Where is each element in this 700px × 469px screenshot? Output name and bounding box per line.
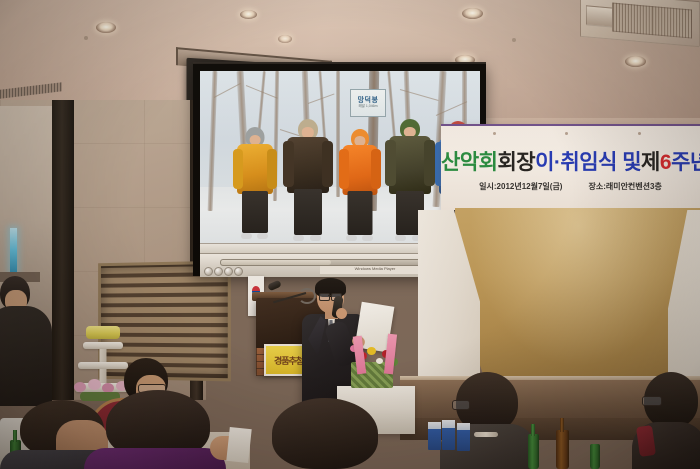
banner-place: 장소:래미안컨벤션3층 [588, 181, 661, 192]
banner-ordinal-prefix: 제 [641, 151, 660, 174]
stage-backdrop-gold [455, 208, 700, 386]
hiker-1-boot-r [257, 233, 268, 239]
microphone-head-icon [267, 280, 282, 292]
hiker-1-arm-right [267, 149, 277, 189]
cake-flower-2 [88, 379, 101, 390]
hiker-3-arm-right [371, 149, 381, 189]
hiker-1 [234, 127, 276, 239]
flower-white-1 [376, 358, 383, 364]
hiker-1-legs [242, 191, 268, 233]
speaker-glasses-bridge [328, 295, 331, 296]
hiker-3 [340, 129, 380, 241]
soju-bottle-3 [528, 434, 539, 469]
banner-ceremony: 이·취임식 및 [535, 151, 641, 174]
soju-bottle-3-neck [531, 424, 535, 436]
audience-right-2 [634, 372, 700, 469]
audience-foreground-hand [200, 428, 252, 469]
microphone-stand [272, 270, 306, 304]
soju-bottle-4 [590, 444, 600, 469]
yellow-cake [86, 326, 120, 339]
player-prev-button[interactable] [204, 267, 213, 276]
banner-pin-2 [565, 132, 568, 135]
downlight-3 [462, 8, 483, 19]
audience-right-1-necklace [474, 432, 498, 437]
audience-standing-left-body [0, 306, 52, 406]
hiker-4-boot-l [395, 235, 406, 241]
player-stop-button[interactable] [224, 267, 233, 276]
player-play-button[interactable] [214, 267, 223, 276]
banner-title: 산악회회장이·취임식 및제6주년 [441, 146, 700, 176]
hiker-3-legs [348, 191, 373, 235]
banner-club-name: 산악회 [441, 151, 497, 174]
hiker-2 [284, 119, 332, 241]
gift-box-2 [442, 420, 455, 450]
ceiling-fixture-dot-2 [512, 38, 516, 42]
hiker-2-arm-left [283, 141, 294, 187]
audience-standing-left [0, 276, 56, 406]
banner-pin-3 [638, 132, 641, 135]
beer-bottle-2-neck [560, 418, 564, 432]
flower-yellow-1 [367, 347, 376, 355]
banner-anniversary-number: 6 [660, 151, 671, 174]
audience-right-2-glasses [642, 396, 662, 406]
hiker-1-arm-left [233, 149, 243, 189]
event-banner: 산악회회장이·취임식 및제6주년 일시:2012년12월7일(금) 장소:래미안… [441, 124, 700, 210]
banner-pin-1 [493, 132, 496, 135]
banner-date: 일시:2012년12월7일(금) [479, 181, 562, 192]
banner-anniversary-suffix: 주년 [671, 151, 700, 174]
hiker-4-arm-right [424, 140, 435, 186]
banner-subtitle: 일시:2012년12월7일(금) 장소:래미안컨벤션3층 [441, 181, 700, 192]
player-next-button[interactable] [234, 267, 243, 276]
hiker-4-arm-left [385, 140, 396, 186]
downlight-2 [240, 10, 257, 19]
hiker-2-arm-right [322, 141, 333, 187]
cake-flower-1 [74, 382, 86, 392]
banner-role: 회장 [497, 151, 535, 174]
trail-sign-line2: 해발 1,046m [351, 104, 385, 109]
audience-right-1-glasses [452, 400, 470, 410]
hiker-2-boot-l [293, 235, 304, 241]
fluorescent-light-strip [10, 228, 17, 272]
hiker-2-boot-r [310, 235, 321, 241]
hiker-3-boot-l [346, 235, 357, 241]
speaker-hand-holding-mic [336, 308, 347, 319]
gift-box-3 [457, 423, 470, 451]
downlight-6 [278, 35, 292, 43]
hiker-3-arm-left [339, 149, 349, 189]
audience-foreground-center [252, 398, 392, 469]
conference-hall-photo: 망덕봉 해발 1,046m [0, 0, 700, 469]
hiker-3-boot-r [362, 235, 373, 241]
cake-tier-top [83, 342, 123, 349]
gift-box-1 [428, 422, 441, 450]
audience-foreground-center-head [272, 398, 378, 469]
player-status-caption: Windows Media Player [320, 266, 430, 274]
beer-bottle-2 [556, 430, 569, 469]
hiker-1-boot-l [241, 233, 252, 239]
hiker-2-legs [294, 189, 322, 235]
downlight-1 [96, 22, 116, 33]
ceiling-fixture-dot-1 [84, 36, 88, 40]
player-progress-fill [221, 260, 332, 265]
trail-sign: 망덕봉 해발 1,046m [350, 89, 386, 117]
downlight-5 [625, 56, 646, 67]
napkin [226, 427, 251, 463]
